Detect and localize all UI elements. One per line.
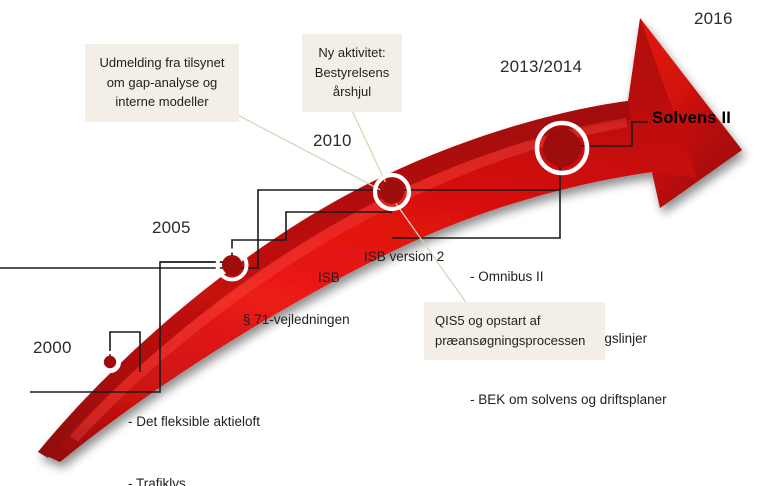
year-label-2000: 2000: [33, 337, 72, 359]
year-label-2005: 2005: [152, 217, 191, 239]
callout-line: om gap-analyse og: [96, 73, 228, 93]
milestone-paragraf-71: § 71-vejledningen: [243, 311, 350, 329]
year-label-2016: 2016: [694, 8, 733, 30]
milestone-solvens-ii: Solvens II: [652, 108, 731, 130]
callout-ny-aktivitet: Ny aktivitet: Bestyrelsens årshjul: [302, 34, 402, 112]
callout-line: Bestyrelsens: [313, 63, 391, 83]
list-item: - BEK om solvens og driftsplaner: [470, 390, 667, 411]
callout-line: interne modeller: [96, 92, 228, 112]
callout-line: Udmelding fra tilsynet: [96, 53, 228, 73]
callout-line: Ny aktivitet:: [313, 43, 391, 63]
year-2000-bullet-list: - Det fleksible aktieloft - Trafiklys - …: [128, 371, 498, 486]
callout-qis5: QIS5 og opstart af præansøgningsprocesse…: [424, 302, 605, 360]
callout-udmelding: Udmelding fra tilsynet om gap-analyse og…: [85, 44, 239, 122]
diagram-artboard: 2000 2005 2010 2013/2014 2016 § 71-vejle…: [0, 0, 772, 486]
callout-line: QIS5 og opstart af: [435, 311, 594, 331]
list-item: - Omnibus II: [470, 267, 667, 288]
timeline-diagram: 2000 2005 2010 2013/2014 2016 § 71-vejle…: [0, 0, 772, 486]
year-label-2010: 2010: [313, 130, 352, 152]
list-item: - Det fleksible aktieloft: [128, 412, 498, 433]
callout-line: årshjul: [313, 82, 391, 102]
milestone-isb-version-2: ISB version 2: [364, 248, 444, 266]
list-item: - Trafiklys: [128, 474, 498, 486]
year-label-2013-2014: 2013/2014: [500, 56, 582, 78]
callout-line: præansøgningsprocessen: [435, 331, 594, 351]
milestone-isb: ISB: [318, 269, 340, 287]
